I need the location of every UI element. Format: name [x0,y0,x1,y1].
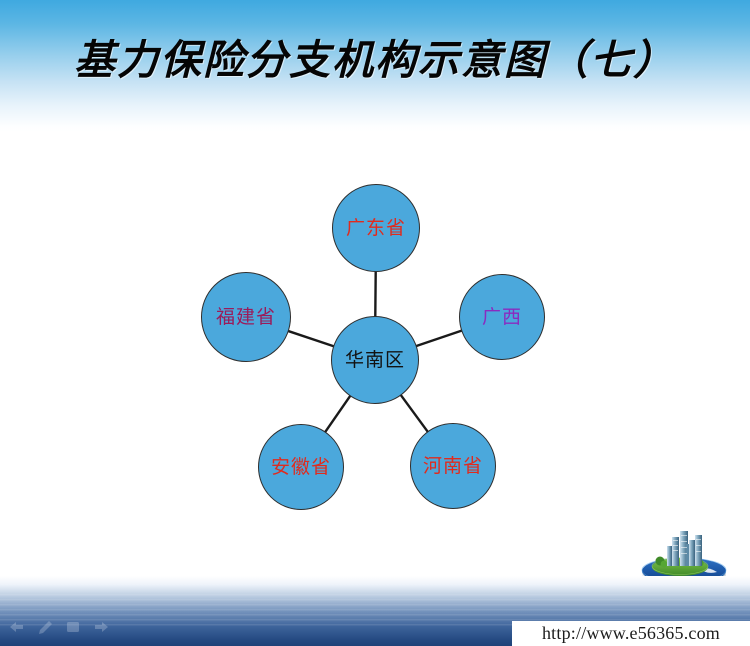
watermark-url: http://www.e56365.com [512,621,750,646]
diagram-node-guangdong-label: 广东省 [346,219,406,238]
slideshow-nav-controls[interactable] [8,616,118,638]
diagram-node-hub-label: 华南区 [345,351,405,370]
diagram-node-fujian[interactable]: 福建省 [201,272,291,362]
diagram-node-hub[interactable]: 华南区 [331,316,419,404]
diagram-node-guangdong[interactable]: 广东省 [332,184,420,272]
diagram-node-anhui-label: 安徽省 [271,458,331,477]
nav-back-icon[interactable] [8,619,26,635]
diagram-node-henan[interactable]: 河南省 [410,423,496,509]
diagram-node-guangxi[interactable]: 广西 [459,274,545,360]
diagram-node-anhui[interactable]: 安徽省 [258,424,344,510]
diagram-node-henan-label: 河南省 [423,457,483,476]
diagram-node-guangxi-label: 广西 [482,308,522,327]
diagram-node-fujian-label: 福建省 [216,308,276,327]
nav-menu-icon[interactable] [64,619,82,635]
presentation-slide: 基力保险分支机构示意图（七） 华南区 广东省 广西 福建省 安徽省 河南省 [0,0,750,646]
nav-forward-icon[interactable] [92,619,110,635]
nav-pen-icon[interactable] [36,619,54,635]
